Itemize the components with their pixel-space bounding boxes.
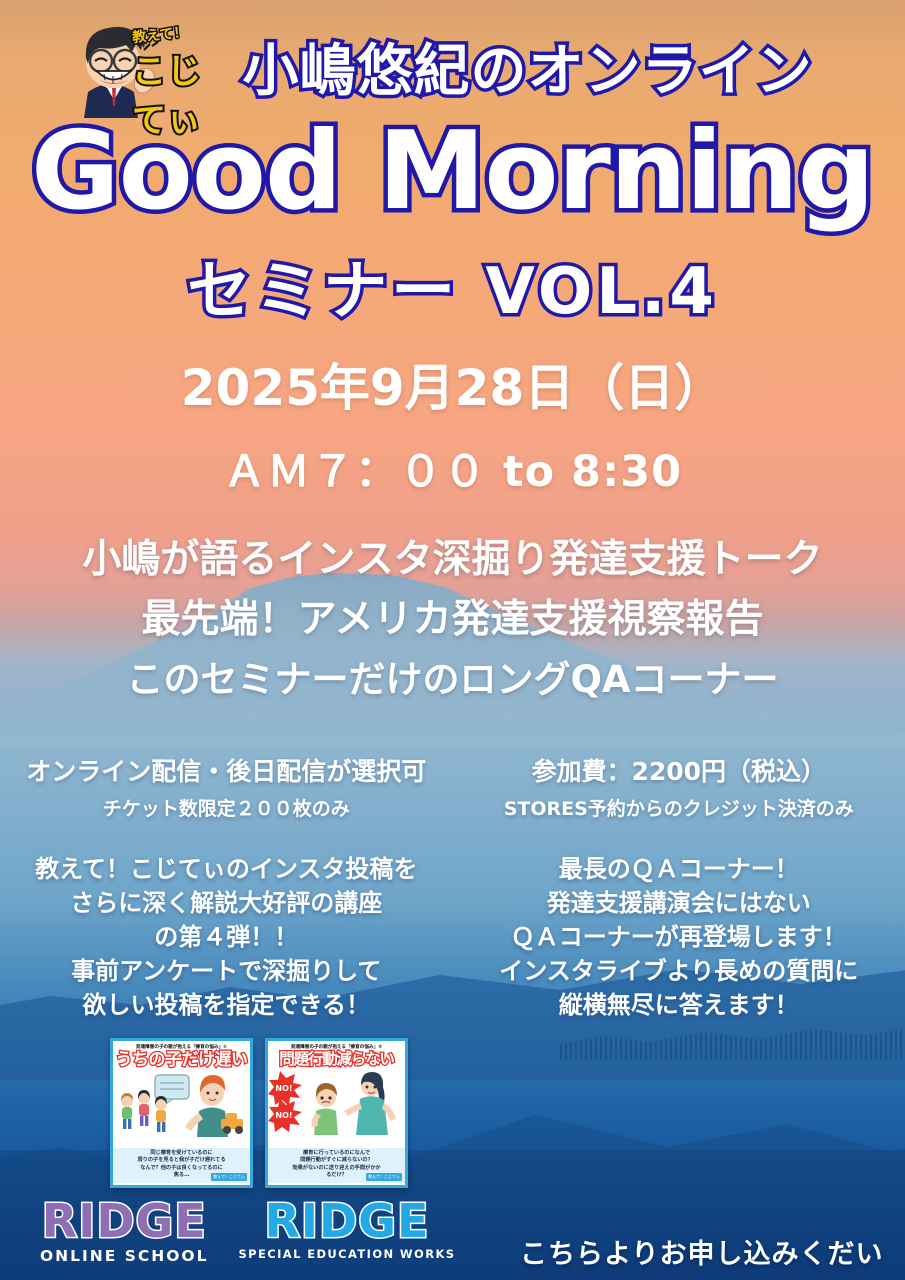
caption-line: 問題行動がすぐに減らないの？ bbox=[269, 1157, 404, 1165]
info-column-right: 参加費：2200円（税込） STORES予約からのクレジット決済のみ bbox=[453, 752, 905, 821]
page-title: Good Morning bbox=[0, 118, 905, 226]
post-card-title: うちの子だけ遅い bbox=[113, 1051, 250, 1070]
caption-line: 周りの子を見ると我が子だけ遅れてる bbox=[114, 1157, 249, 1165]
topic-item: 小嶋が語るインスタ深掘り発達支援トーク bbox=[0, 530, 905, 590]
post-card-tag: 教えて！こじてぃ bbox=[366, 1173, 402, 1181]
ridge-special-education-works-logo[interactable]: RIDGE SPECIAL EDUCATION WORKS bbox=[239, 1198, 456, 1261]
child-refusing-mother-icon: NO! NO! bbox=[268, 1069, 405, 1135]
children-and-mother-icon bbox=[113, 1071, 250, 1137]
event-time: ＡＭ７：００ to 8:30 bbox=[0, 437, 905, 499]
info-line: 教えて！こじてぃのインスタ投稿を bbox=[6, 852, 447, 886]
ticket-limit-note: チケット数限定２００枚のみ bbox=[6, 794, 447, 821]
info-line: の第４弾！！ bbox=[6, 920, 447, 954]
page-subtitle: セミナー VOL.4 bbox=[0, 240, 905, 332]
info-column-left: オンライン配信・後日配信が選択可 チケット数限定２００枚のみ bbox=[0, 752, 453, 821]
info-line: 縦横無尽に答えます！ bbox=[459, 988, 900, 1022]
post-card[interactable]: 発達障害の子の親が抱える「療育の悩み」③ 問題行動減らない NO! NO! bbox=[265, 1038, 408, 1188]
ridge-tagline: ONLINE SCHOOL bbox=[40, 1247, 209, 1265]
post-card-illustration bbox=[113, 1071, 250, 1137]
apply-cta-text[interactable]: こちらよりお申し込みくだい bbox=[520, 1232, 883, 1271]
seminar-poster: 教えて！ こじてぃ 小嶋悠紀のオンライン Good Morning セミナー V… bbox=[0, 0, 905, 1280]
topic-item: このセミナーだけのロングQAコーナー bbox=[0, 651, 905, 708]
info-line: 欲しい投稿を指定できる！ bbox=[6, 988, 447, 1022]
ridge-wordmark: RIDGE bbox=[239, 1198, 456, 1244]
info-line: ＱＡコーナーが再登場します！ bbox=[459, 920, 900, 954]
info-heading-row: オンライン配信・後日配信が選択可 チケット数限定２００枚のみ 参加費：2200円… bbox=[0, 752, 905, 821]
ridge-wordmark: RIDGE bbox=[40, 1198, 209, 1244]
info-line: 発達支援講演会にはない bbox=[459, 886, 900, 920]
post-card-tag: 教えて！こじてぃ bbox=[211, 1173, 247, 1181]
instagram-post-thumbnails: 発達障害の子の親が抱える「療育の悩み」① うちの子だけ遅い bbox=[110, 1038, 408, 1188]
post-card[interactable]: 発達障害の子の親が抱える「療育の悩み」① うちの子だけ遅い bbox=[110, 1038, 253, 1188]
headline-japanese: 小嶋悠紀のオンライン bbox=[0, 26, 905, 107]
post-card-caption: 同じ療育を受けているのに 周りの子を見ると我が子だけ遅れてる なんで？他の子は良… bbox=[113, 1148, 250, 1183]
info-line: 最長のＱＡコーナー！ bbox=[459, 852, 900, 886]
topic-item: 最先端！アメリカ発達支援視察報告 bbox=[0, 590, 905, 650]
post-card-illustration: NO! NO! bbox=[268, 1069, 405, 1135]
ridge-tagline: SPECIAL EDUCATION WORKS bbox=[239, 1247, 456, 1261]
info-line: 事前アンケートで深掘りして bbox=[6, 954, 447, 988]
info-line: さらに深く解説大好評の講座 bbox=[6, 886, 447, 920]
info-body-right: 最長のＱＡコーナー！ 発達支援講演会にはない ＱＡコーナーが再登場します！ イン… bbox=[453, 852, 905, 1022]
sponsor-logos: RIDGE ONLINE SCHOOL RIDGE SPECIAL EDUCAT… bbox=[40, 1198, 455, 1265]
svg-text:NO!: NO! bbox=[275, 1084, 292, 1093]
delivery-format-heading: オンライン配信・後日配信が選択可 bbox=[6, 752, 447, 788]
info-body-row: 教えて！こじてぃのインスタ投稿を さらに深く解説大好評の講座 の第４弾！！ 事前… bbox=[0, 852, 905, 1022]
info-body-left: 教えて！こじてぃのインスタ投稿を さらに深く解説大好評の講座 の第４弾！！ 事前… bbox=[0, 852, 453, 1022]
payment-method-note: STORES予約からのクレジット決済のみ bbox=[459, 794, 900, 821]
post-card-caption: 療育に行っているのになんで 問題行動がすぐに減らないの？ 効果がないのに送り迎え… bbox=[268, 1148, 405, 1183]
price-heading: 参加費：2200円（税込） bbox=[459, 752, 900, 788]
svg-text:NO!: NO! bbox=[275, 1111, 292, 1120]
topic-list: 小嶋が語るインスタ深掘り発達支援トーク 最先端！アメリカ発達支援視察報告 このセ… bbox=[0, 530, 905, 708]
event-date: 2025年9月28日（日） bbox=[0, 348, 905, 420]
info-line: インスタライブより長めの質問に bbox=[459, 954, 900, 988]
post-card-title: 問題行動減らない bbox=[268, 1051, 405, 1068]
ridge-online-school-logo[interactable]: RIDGE ONLINE SCHOOL bbox=[40, 1198, 209, 1265]
